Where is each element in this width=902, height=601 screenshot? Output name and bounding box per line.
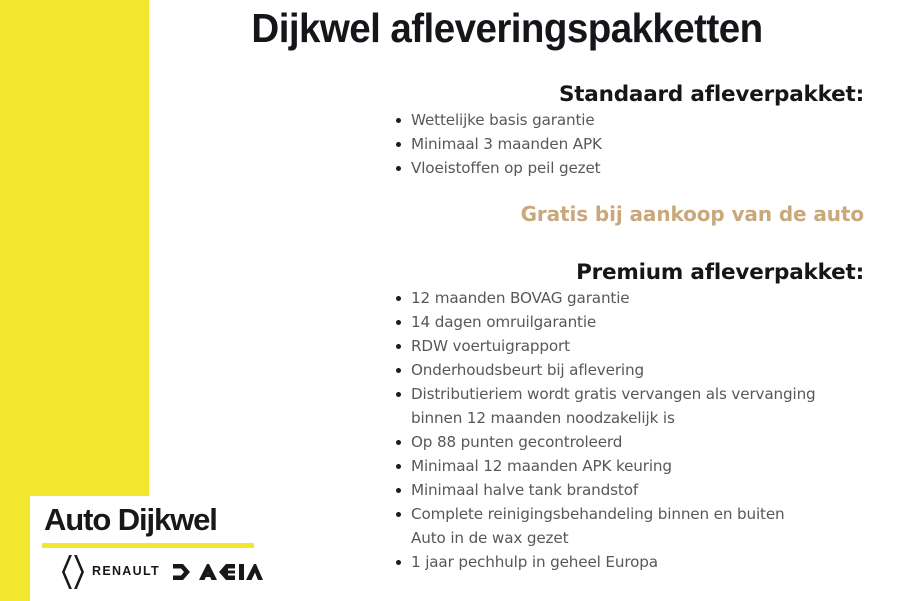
- list-item: Op 88 punten gecontroleerd: [380, 430, 864, 454]
- premium-package-list: 12 maanden BOVAG garantie 14 dagen omrui…: [380, 286, 864, 574]
- standard-package-list: Wettelijke basis garantie Minimaal 3 maa…: [380, 108, 864, 180]
- list-item: Minimaal 3 maanden APK: [380, 132, 864, 156]
- standard-package-heading: Standaard afleverpakket:: [380, 82, 864, 108]
- list-item: 12 maanden BOVAG garantie: [380, 286, 864, 310]
- list-item: Complete reinigingsbehandeling binnen en…: [380, 502, 864, 526]
- brand-logos-row: RENAULT: [40, 552, 266, 594]
- list-item: Onderhoudsbeurt bij aflevering: [380, 358, 864, 382]
- list-item: Vloeistoffen op peil gezet: [380, 156, 864, 180]
- list-item: RDW voertuigrapport: [380, 334, 864, 358]
- premium-package-heading: Premium afleverpakket:: [380, 260, 864, 286]
- list-item: 1 jaar pechhulp in geheel Europa: [380, 550, 864, 574]
- dealer-logo-block: Auto Dijkwel RENAULT: [30, 496, 266, 601]
- list-item: Minimaal halve tank brandstof: [380, 478, 864, 502]
- standard-package-note: Gratis bij aankoop van de auto: [380, 201, 864, 227]
- renault-diamond-icon: [62, 555, 84, 589]
- renault-label: RENAULT: [92, 564, 160, 578]
- list-item: Auto in de wax gezet: [380, 526, 864, 550]
- list-item: Distributieriem wordt gratis vervangen a…: [380, 382, 864, 430]
- list-item: Minimaal 12 maanden APK keuring: [380, 454, 864, 478]
- packages-content: Standaard afleverpakket: Wettelijke basi…: [380, 0, 864, 574]
- list-item: 14 dagen omruilgarantie: [380, 310, 864, 334]
- dealer-name-wordmark: Auto Dijkwel: [44, 502, 217, 538]
- delivery-packages-slide: Dijkwel afleveringspakketten Standaard a…: [0, 0, 902, 601]
- dacia-wordmark-icon: [173, 562, 263, 582]
- list-item: Wettelijke basis garantie: [380, 108, 864, 132]
- logo-yellow-rule: [42, 543, 254, 548]
